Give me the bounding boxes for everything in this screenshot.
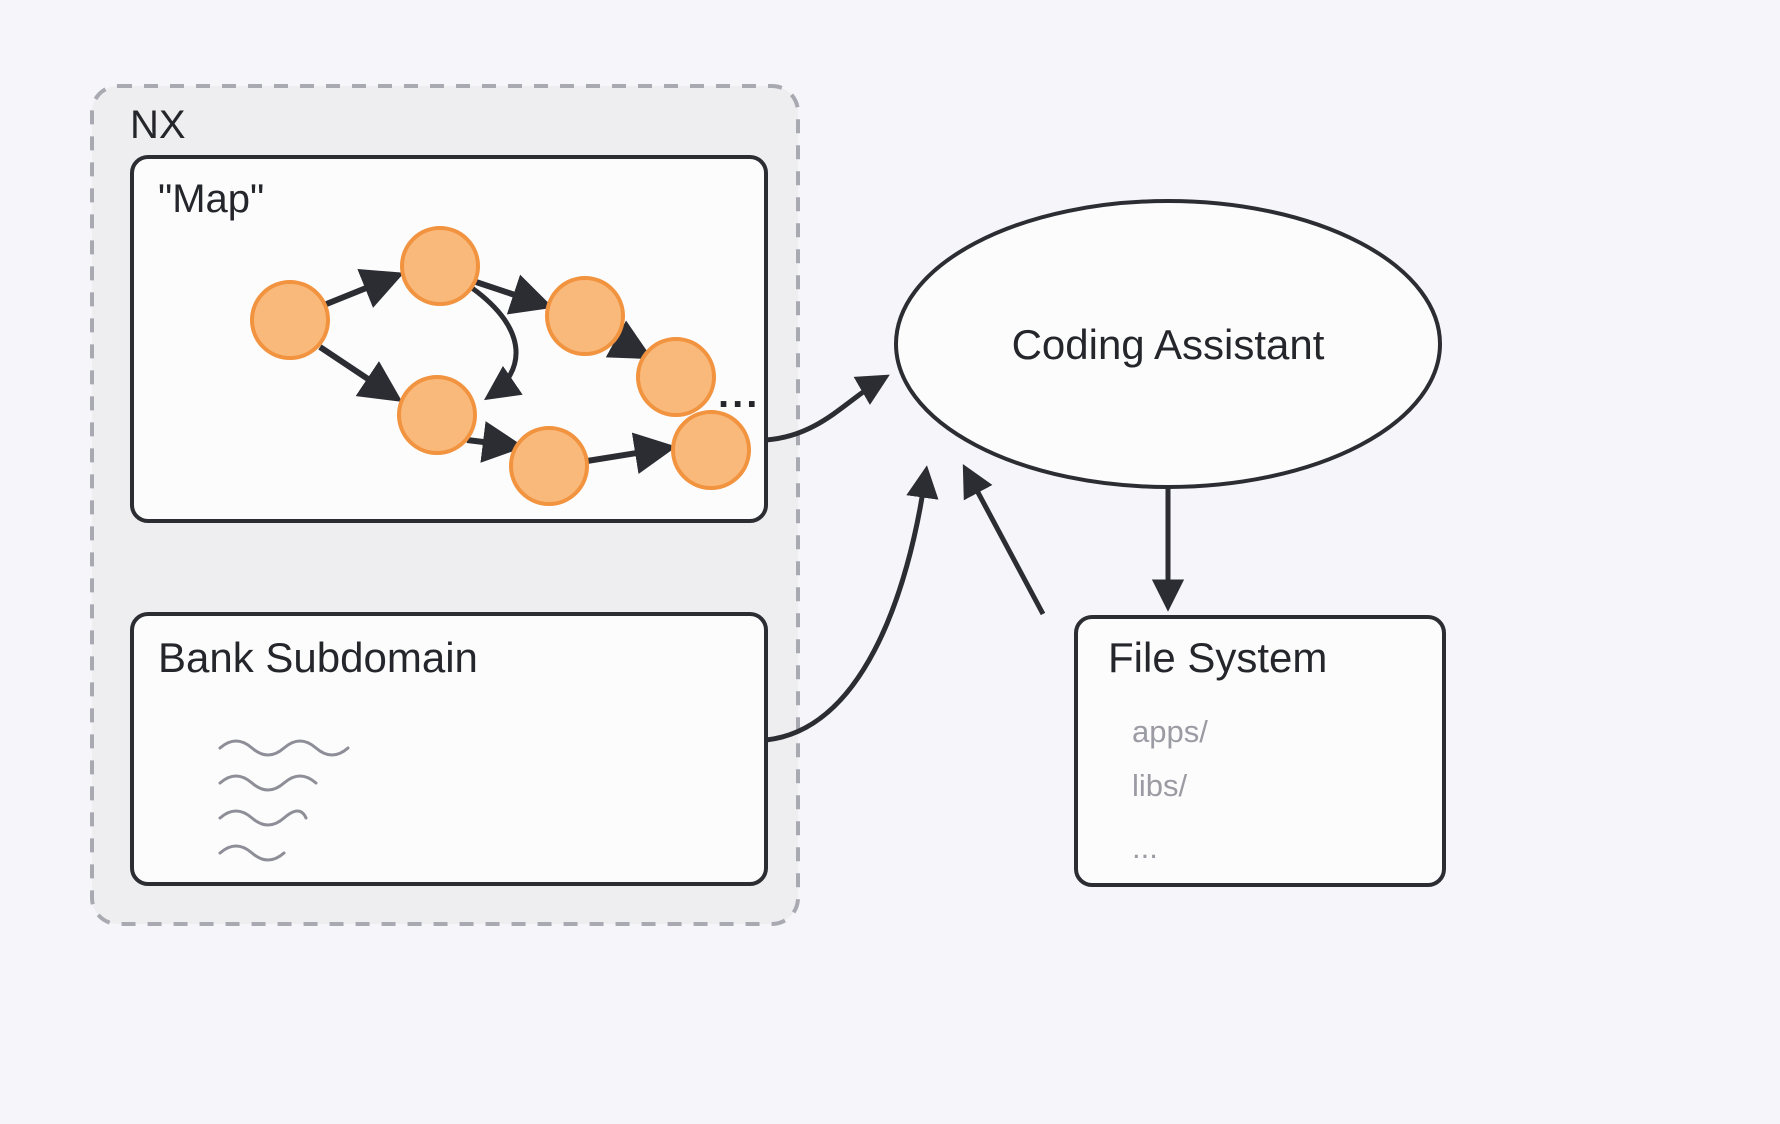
- graph-node[interactable]: [638, 339, 714, 415]
- graph-node[interactable]: [252, 282, 328, 358]
- map-card[interactable]: "Map" ...: [132, 157, 766, 521]
- graph-node[interactable]: [511, 428, 587, 504]
- graph-node[interactable]: [402, 228, 478, 304]
- architecture-diagram: NX "Map": [0, 0, 1780, 1124]
- nx-label: NX: [130, 103, 186, 147]
- file-system-title: File System: [1108, 634, 1327, 681]
- graph-node[interactable]: [547, 278, 623, 354]
- bank-subdomain-title: Bank Subdomain: [158, 634, 478, 681]
- coding-assistant-node[interactable]: Coding Assistant: [896, 201, 1440, 487]
- map-ellipsis: ...: [718, 372, 760, 416]
- map-card-title: "Map": [158, 177, 264, 221]
- file-system-entry: libs/: [1132, 768, 1188, 803]
- graph-node[interactable]: [673, 412, 749, 488]
- bank-subdomain-card[interactable]: Bank Subdomain: [132, 614, 766, 884]
- coding-assistant-label: Coding Assistant: [1012, 321, 1325, 368]
- diagram-canvas: NX "Map": [0, 0, 1780, 1124]
- file-system-entry: ...: [1132, 830, 1158, 865]
- file-system-entry: apps/: [1132, 714, 1208, 749]
- connector-filesystem-to-assistant: [966, 470, 1043, 614]
- graph-node[interactable]: [399, 377, 475, 453]
- file-system-card[interactable]: File System apps/ libs/ ...: [1076, 617, 1444, 885]
